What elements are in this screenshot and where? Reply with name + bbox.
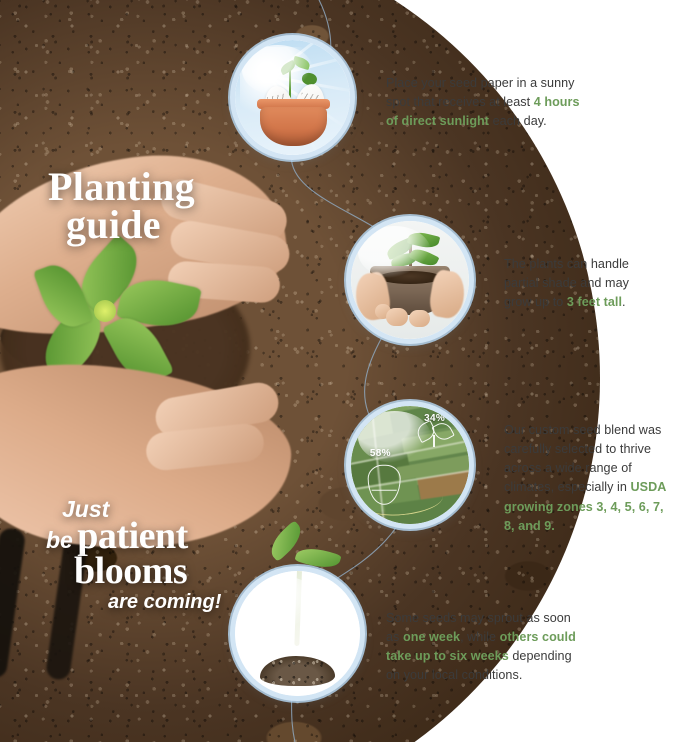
step-text-germination: Some seeds may sprout as soon as one wee… [386, 609, 586, 686]
finger [386, 308, 407, 326]
step-image-shade-height [351, 221, 469, 339]
step-text-zones: Our custom seed blend was carefully sele… [504, 421, 666, 536]
page-title-line2: guide [66, 206, 195, 244]
step-text-sunlight: Place your seed paper in a sunny spot th… [386, 74, 586, 131]
kicker-row: be patient [46, 519, 261, 554]
hero-kicker: Just be patient blooms are coming! [46, 498, 261, 614]
cotyledon-leaf [294, 543, 341, 572]
sprout-icon [417, 423, 452, 449]
kicker-blooms: blooms [74, 554, 261, 590]
seedling-center [94, 300, 116, 322]
step-image-sunlight [235, 40, 350, 155]
step-image-zones: 58% 34% [351, 406, 469, 524]
step-text-shade-height: The plants can handle partial shade and … [504, 255, 654, 312]
sprout-cotyledons [262, 527, 352, 587]
infographic-canvas: Planting guide Just be patient blooms ar… [0, 0, 679, 742]
step-image-germination [235, 571, 360, 696]
moisture-percent-label: 58% [370, 448, 391, 459]
page-title: Planting guide [48, 168, 195, 244]
kicker-be: be [46, 527, 73, 553]
finger [409, 310, 430, 328]
pot-soil [379, 271, 440, 284]
